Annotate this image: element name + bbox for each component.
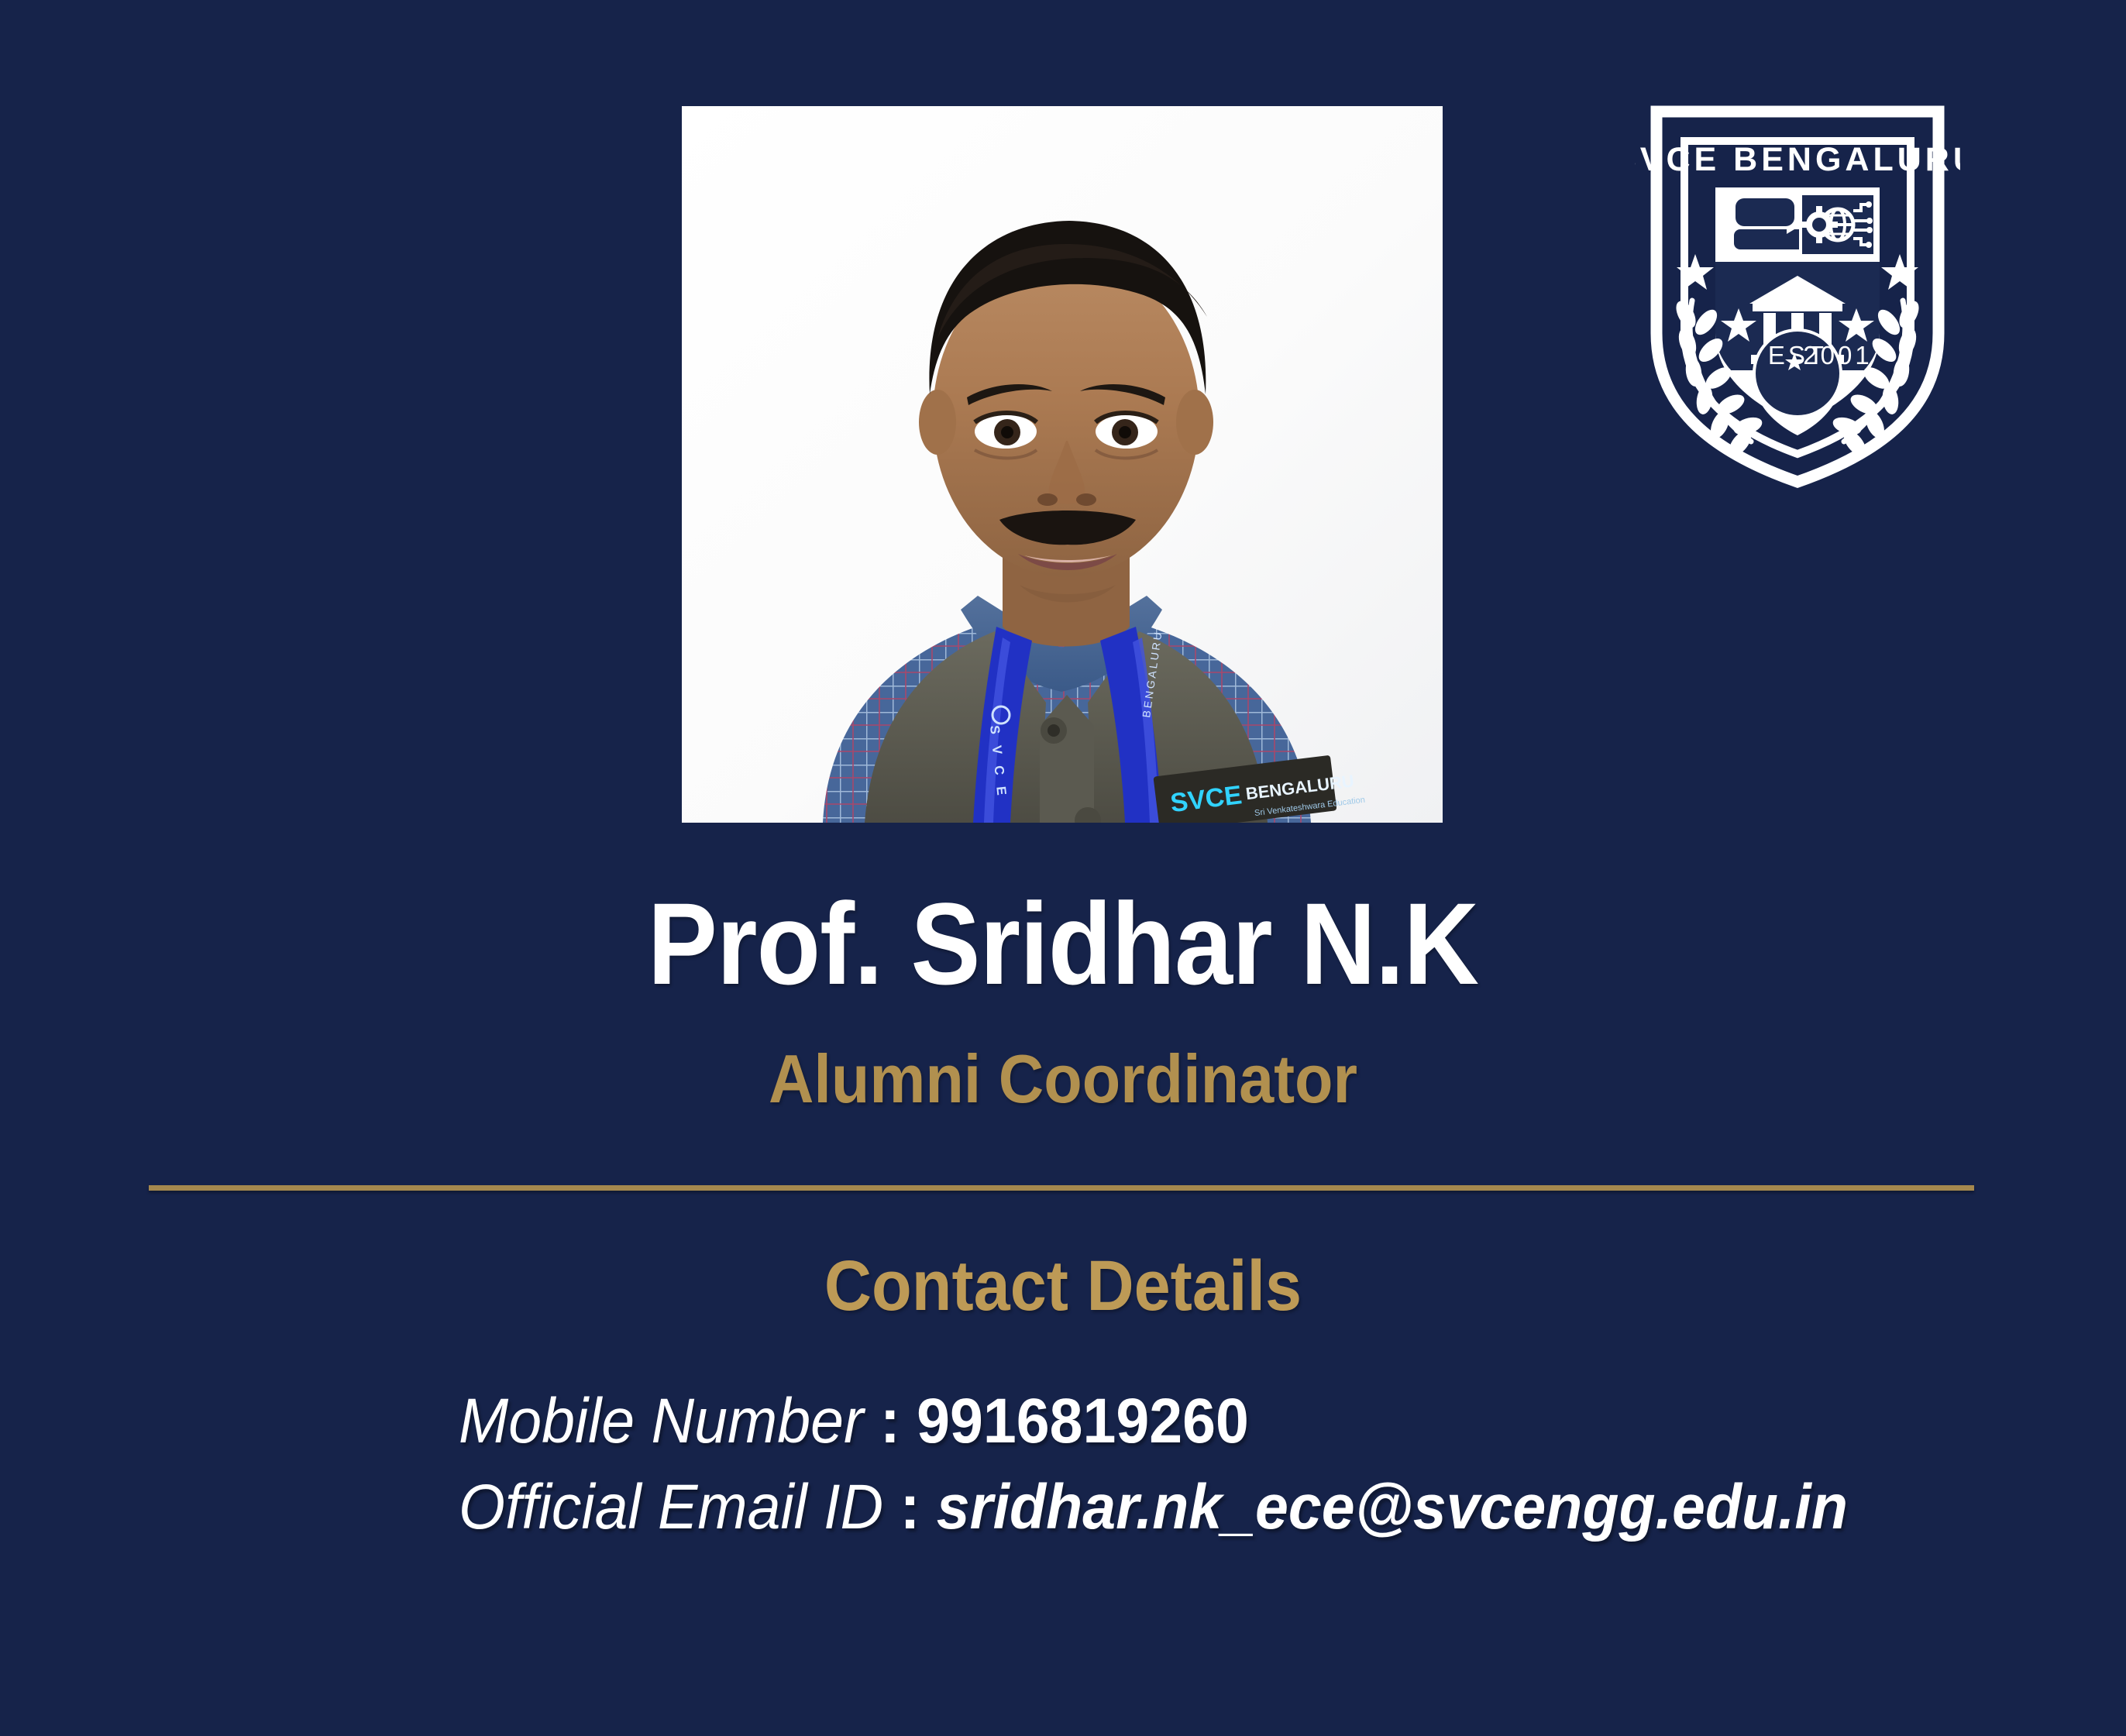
contact-details-list: Mobile Number : 9916819260 Official Emai… [459,1379,1936,1550]
email-separator: : [900,1472,920,1542]
contact-details-heading: Contact Details [85,1247,2041,1325]
svce-bengaluru-crest-logo-icon: SVCE BENGALURU [1635,101,1960,488]
official-email-label: Official Email ID [459,1472,883,1542]
mobile-number-value[interactable]: 9916819260 [917,1386,1249,1456]
svg-text:2001: 2001 [1803,341,1872,370]
role-subtitle: Alumni Coordinator [85,1042,2041,1117]
svg-text:SVCE BENGALURU: SVCE BENGALURU [1635,141,1960,178]
mobile-separator: : [880,1386,900,1456]
section-divider [149,1185,1974,1191]
profile-photo: S V C E BENGALURU SVCE BENGALURU Sri Ven… [682,106,1443,823]
faculty-contact-card: SVCE BENGALURU [0,0,2126,1736]
official-email-value[interactable]: sridhar.nk_ece@svcengg.edu.in [937,1472,1848,1542]
contact-row-mobile: Mobile Number : 9916819260 [459,1379,1848,1465]
page-title: Prof. Sridhar N.K [106,883,2020,1006]
contact-row-email: Official Email ID : sridhar.nk_ece@svcen… [459,1465,1848,1551]
mobile-number-label: Mobile Number [459,1386,864,1456]
